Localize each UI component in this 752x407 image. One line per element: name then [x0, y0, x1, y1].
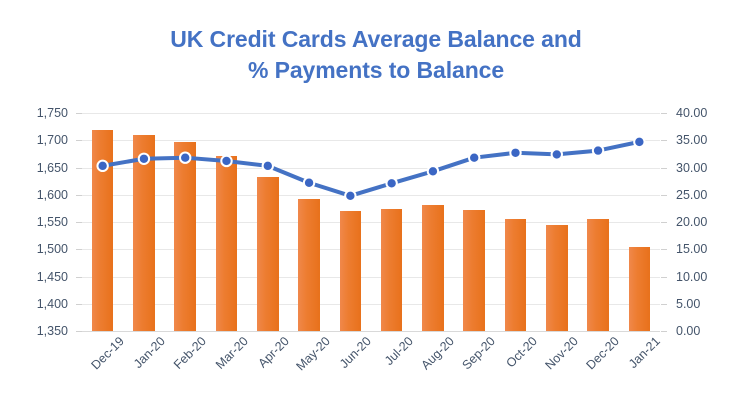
left-axis-tick-label: 1,350 — [14, 325, 68, 337]
right-axis-tick-label: 0.00 — [676, 325, 734, 337]
line-marker: May-20: 27.2 — [304, 178, 314, 188]
bar — [546, 225, 567, 331]
line-marker: Jul-20: 27.1 — [386, 178, 396, 188]
right-axis-tick-label: 25.00 — [676, 189, 734, 201]
chart-title: UK Credit Cards Average Balance and % Pa… — [0, 24, 752, 86]
bar — [133, 135, 154, 331]
right-axis-tick-mark — [661, 168, 667, 169]
right-axis-tick-mark — [661, 304, 667, 305]
left-axis-tick-label: 1,500 — [14, 243, 68, 255]
category-axis-label: Aug-20 — [418, 334, 456, 372]
line-marker: Sep-20: 31.8 — [469, 152, 479, 162]
left-axis-tick-label: 1,450 — [14, 271, 68, 283]
bar — [174, 142, 195, 331]
category-axis-label: Jan-20 — [131, 334, 168, 371]
bar — [92, 130, 113, 331]
right-value-axis: 0.005.0010.0015.0020.0025.0030.0035.0040… — [676, 113, 734, 331]
category-axis-label: Nov-20 — [542, 334, 580, 372]
left-value-axis: 1,3501,4001,4501,5001,5501,6001,6501,700… — [14, 113, 68, 331]
category-axis-label: Dec-20 — [584, 334, 622, 372]
chart-container: UK Credit Cards Average Balance and % Pa… — [0, 0, 752, 407]
category-axis-label: May-20 — [294, 334, 333, 373]
right-axis-tick-mark — [661, 140, 667, 141]
right-axis-tick-mark — [661, 331, 667, 332]
category-axis-label: Jul-20 — [382, 334, 416, 368]
chart-title-line-2: % Payments to Balance — [0, 55, 752, 86]
gridline — [82, 113, 660, 114]
left-axis-tick-label: 1,700 — [14, 134, 68, 146]
gridline — [82, 168, 660, 169]
right-axis-tick-label: 40.00 — [676, 107, 734, 119]
bar — [298, 199, 319, 331]
right-axis-ticks — [661, 113, 669, 331]
right-axis-tick-mark — [661, 277, 667, 278]
category-axis-label: Dec-19 — [88, 334, 126, 372]
category-axis-label: Feb-20 — [171, 334, 209, 372]
bar — [629, 247, 650, 331]
right-axis-tick-label: 10.00 — [676, 271, 734, 283]
right-axis-tick-label: 15.00 — [676, 243, 734, 255]
category-axis-label: Sep-20 — [460, 334, 498, 372]
left-axis-tick-label: 1,600 — [14, 189, 68, 201]
left-axis-tick-label: 1,400 — [14, 298, 68, 310]
line-marker: Jan-21: 34.7 — [634, 137, 644, 147]
bar — [216, 156, 237, 331]
right-axis-tick-label: 30.00 — [676, 162, 734, 174]
line-marker: Apr-20: 30.3 — [263, 161, 273, 171]
gridline — [82, 277, 660, 278]
line-marker: Nov-20: 32.4 — [552, 149, 562, 159]
right-axis-tick-mark — [661, 195, 667, 196]
category-axis-label: Mar-20 — [213, 334, 251, 372]
category-axis-label: Jan-21 — [626, 334, 663, 371]
plot-area: Dec-19: 30.3Jan-20: 31.6Feb-20: 31.8Mar-… — [82, 113, 660, 331]
bar — [463, 210, 484, 331]
line-marker: Jun-20: 24.8 — [345, 191, 355, 201]
bar — [505, 219, 526, 331]
category-axis-label: Jun-20 — [337, 334, 374, 371]
right-axis-tick-mark — [661, 113, 667, 114]
right-axis-tick-label: 5.00 — [676, 298, 734, 310]
bar — [381, 209, 402, 331]
gridline — [82, 331, 660, 332]
gridline — [82, 222, 660, 223]
left-axis-tick-label: 1,750 — [14, 107, 68, 119]
line-marker: Dec-20: 33.1 — [593, 145, 603, 155]
right-axis-tick-mark — [661, 249, 667, 250]
right-axis-tick-label: 35.00 — [676, 134, 734, 146]
category-axis-label: Oct-20 — [503, 334, 539, 370]
line-marker: Oct-20: 32.7 — [510, 148, 520, 158]
left-axis-ticks — [74, 113, 82, 331]
left-axis-tick-label: 1,550 — [14, 216, 68, 228]
bar — [587, 219, 608, 331]
right-axis-tick-mark — [661, 222, 667, 223]
gridline — [82, 140, 660, 141]
category-axis-label: Apr-20 — [255, 334, 291, 370]
gridline — [82, 304, 660, 305]
category-axis: Dec-19Jan-20Feb-20Mar-20Apr-20May-20Jun-… — [82, 334, 660, 404]
gridline — [82, 195, 660, 196]
chart-title-line-1: UK Credit Cards Average Balance and — [0, 24, 752, 55]
bar — [340, 211, 361, 331]
bar — [257, 177, 278, 331]
bar — [422, 205, 443, 331]
right-axis-tick-label: 20.00 — [676, 216, 734, 228]
gridline — [82, 249, 660, 250]
left-axis-tick-label: 1,650 — [14, 162, 68, 174]
